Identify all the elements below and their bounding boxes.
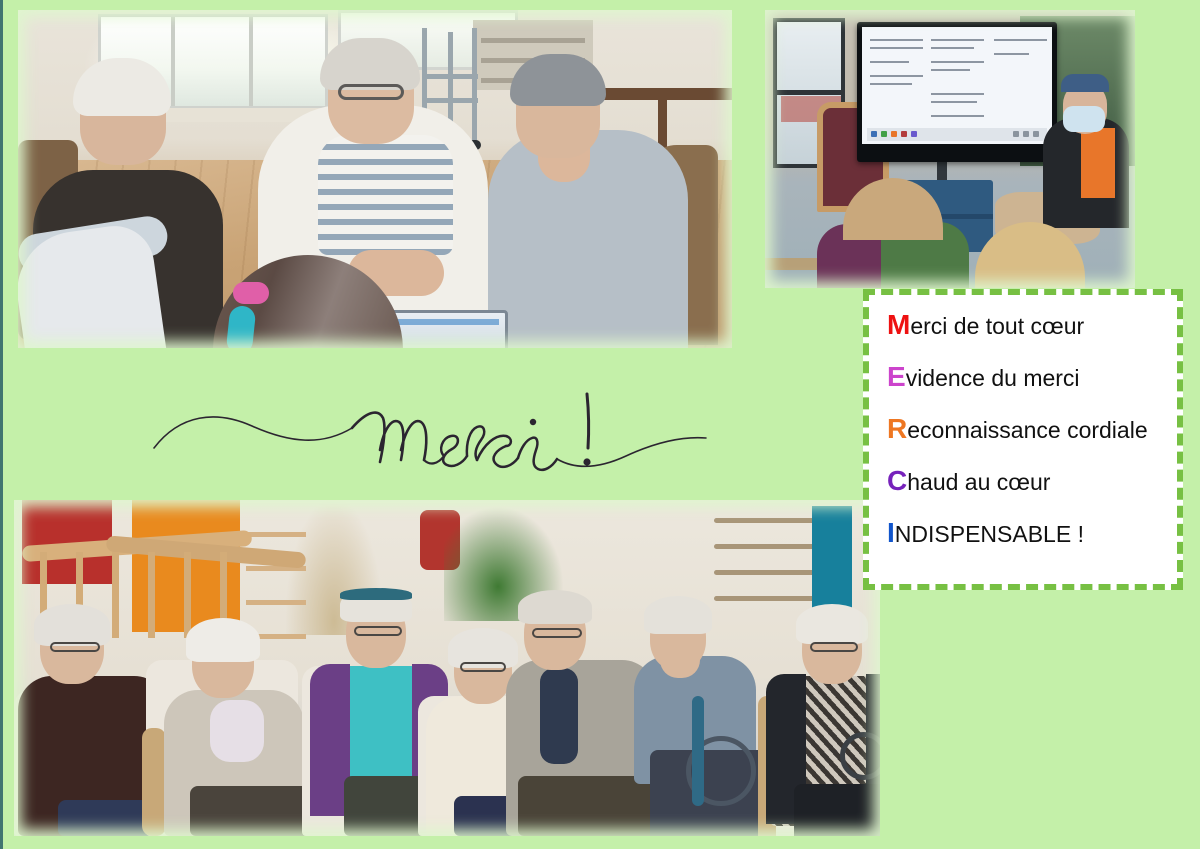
- acrostic-cap-c: C: [887, 465, 907, 496]
- acrostic-cap-e: E: [887, 361, 906, 392]
- acrostic-text-box: Merci de tout cœur Evidence du merci Rec…: [863, 289, 1183, 590]
- acrostic-line-evidence: Evidence du merci: [887, 359, 1167, 395]
- acrostic-rest-m: erci de tout cœur: [910, 313, 1084, 339]
- left-edge-line: [0, 0, 3, 849]
- photo-group: [14, 500, 880, 836]
- acrostic-rest-c: haud au cœur: [907, 469, 1050, 495]
- photo-lounge: [18, 10, 732, 348]
- photo-presentation: [765, 10, 1135, 288]
- acrostic-rest-e: vidence du merci: [906, 365, 1080, 391]
- acrostic-rest-r: econnaissance cordiale: [907, 417, 1147, 443]
- presentation-screen: [857, 22, 1057, 162]
- acrostic-line-merci: Merci de tout cœur: [887, 307, 1167, 343]
- acrostic-cap-i: I: [887, 517, 895, 548]
- acrostic-cap-r: R: [887, 413, 907, 444]
- merci-calligraphy: [140, 370, 720, 495]
- acrostic-line-reconnaissance: Reconnaissance cordiale: [887, 411, 1167, 447]
- poster-canvas: Merci de tout cœur Evidence du merci Rec…: [0, 0, 1200, 849]
- acrostic-rest-i: NDISPENSABLE !: [895, 521, 1084, 547]
- face-mask: [1063, 106, 1105, 132]
- acrostic-line-chaud: Chaud au cœur: [887, 463, 1167, 499]
- acrostic-line-indispensable: INDISPENSABLE !: [887, 515, 1167, 551]
- acrostic-cap-m: M: [887, 309, 910, 340]
